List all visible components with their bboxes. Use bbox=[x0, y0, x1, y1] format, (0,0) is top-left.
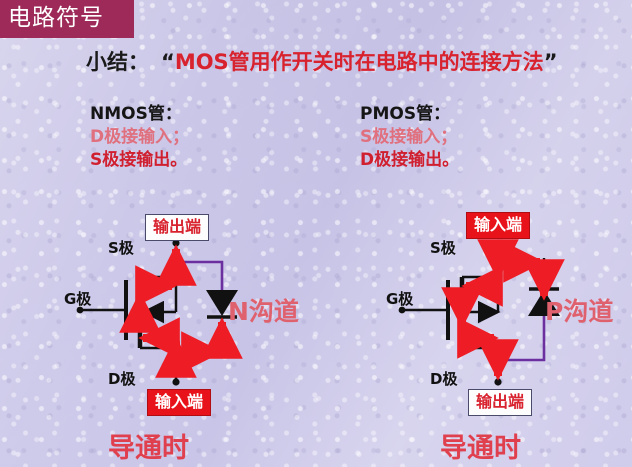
nmos-input-box: 输入端 bbox=[147, 389, 211, 416]
pmos-output-box: 输出端 bbox=[468, 389, 532, 416]
nmos-drain-label: D极 bbox=[108, 368, 135, 389]
nmos-gate-label: G极 bbox=[64, 288, 91, 309]
pmos-input-box: 输入端 bbox=[466, 212, 530, 239]
nmos-output-box: 输出端 bbox=[145, 214, 209, 241]
pmos-drain-terminal-dot bbox=[494, 378, 501, 385]
nmos-source-label: S极 bbox=[108, 237, 134, 258]
nmos-channel-label: N沟道 bbox=[228, 292, 299, 328]
pmos-body-diode-wire bbox=[498, 316, 544, 360]
nmos-caption: 导通时 bbox=[108, 426, 189, 465]
pmos-channel-label: P沟道 bbox=[545, 292, 613, 328]
slide-canvas: 电路符号 小结：“MOS管用作开关时在电路中的连接方法” NMOS管： D极接输… bbox=[0, 0, 632, 467]
pmos-caption: 导通时 bbox=[440, 426, 521, 465]
pmos-drain-label: D极 bbox=[430, 368, 457, 389]
pmos-source-label: S极 bbox=[430, 237, 456, 258]
pmos-source-terminal-dot bbox=[494, 239, 501, 246]
pmos-circuit-diagram bbox=[0, 0, 632, 467]
pmos-gate-label: G极 bbox=[386, 288, 413, 309]
